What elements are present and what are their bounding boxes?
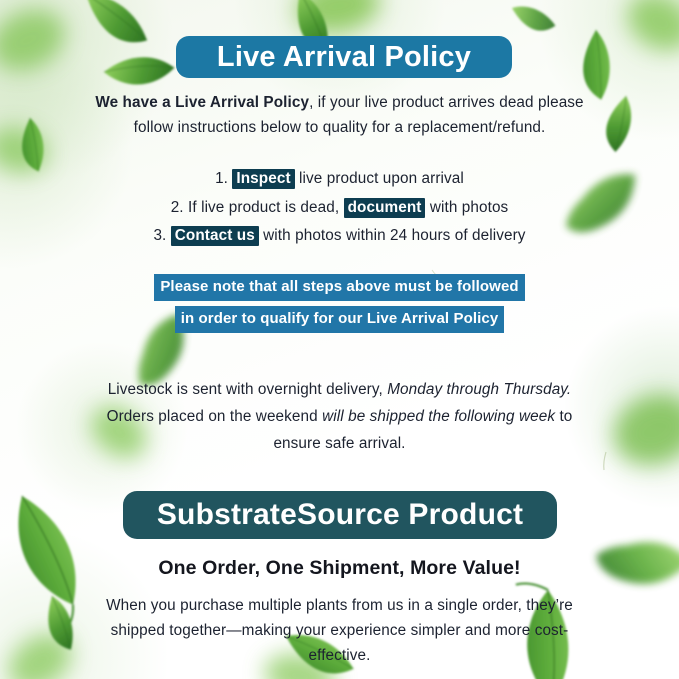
step-1-highlight: Inspect	[232, 169, 294, 189]
value-paragraph: When you purchase multiple plants from u…	[0, 593, 679, 668]
step-3-highlight: Contact us	[171, 226, 259, 246]
value-headline: One Order, One Shipment, More Value!	[0, 557, 679, 580]
substrate-source-product-banner: SubstrateSource Product	[123, 491, 557, 539]
step-3-number: 3.	[153, 227, 166, 244]
policy-notice-line-1: Please note that all steps above must be…	[154, 274, 524, 301]
step-1-after: live product upon arrival	[295, 170, 464, 187]
live-arrival-policy-banner-title: Live Arrival Policy	[217, 41, 471, 74]
policy-notice-callout: Please note that all steps above must be…	[0, 274, 679, 333]
live-arrival-policy-banner: Live Arrival Policy	[176, 36, 512, 78]
policy-steps-list: 1. Inspect live product upon arrival 2. …	[0, 165, 679, 251]
intro-paragraph: We have a Live Arrival Policy, if your l…	[0, 90, 679, 140]
shipping-italic-1: Monday through Thursday.	[387, 381, 571, 398]
step-2-number: 2.	[171, 199, 184, 216]
content-layer: Live Arrival Policy We have a Live Arriv…	[0, 0, 679, 679]
step-2-after: with photos	[425, 199, 508, 216]
shipping-part-1: Livestock is sent with overnight deliver…	[108, 381, 387, 398]
list-item: 1. Inspect live product upon arrival	[0, 165, 679, 194]
substrate-source-banner-title: SubstrateSource Product	[157, 498, 523, 532]
intro-bold-lead: We have a Live Arrival Policy	[95, 94, 309, 111]
shipping-italic-2: will be shipped the following week	[322, 408, 555, 425]
step-1-number: 1.	[215, 170, 228, 187]
shipping-part-2: Orders placed on the weekend	[107, 408, 323, 425]
step-2-before: If live product is dead,	[188, 199, 344, 216]
list-item: 3. Contact us with photos within 24 hour…	[0, 222, 679, 251]
livestock-shipping-paragraph: Livestock is sent with overnight deliver…	[0, 376, 679, 457]
step-3-after: with photos within 24 hours of delivery	[259, 227, 526, 244]
list-item: 2. If live product is dead, document wit…	[0, 194, 679, 223]
policy-notice-line-2: in order to qualify for our Live Arrival…	[175, 306, 505, 333]
live-arrival-policy-infographic: Live Arrival Policy We have a Live Arriv…	[0, 0, 679, 679]
step-2-highlight: document	[344, 198, 426, 218]
